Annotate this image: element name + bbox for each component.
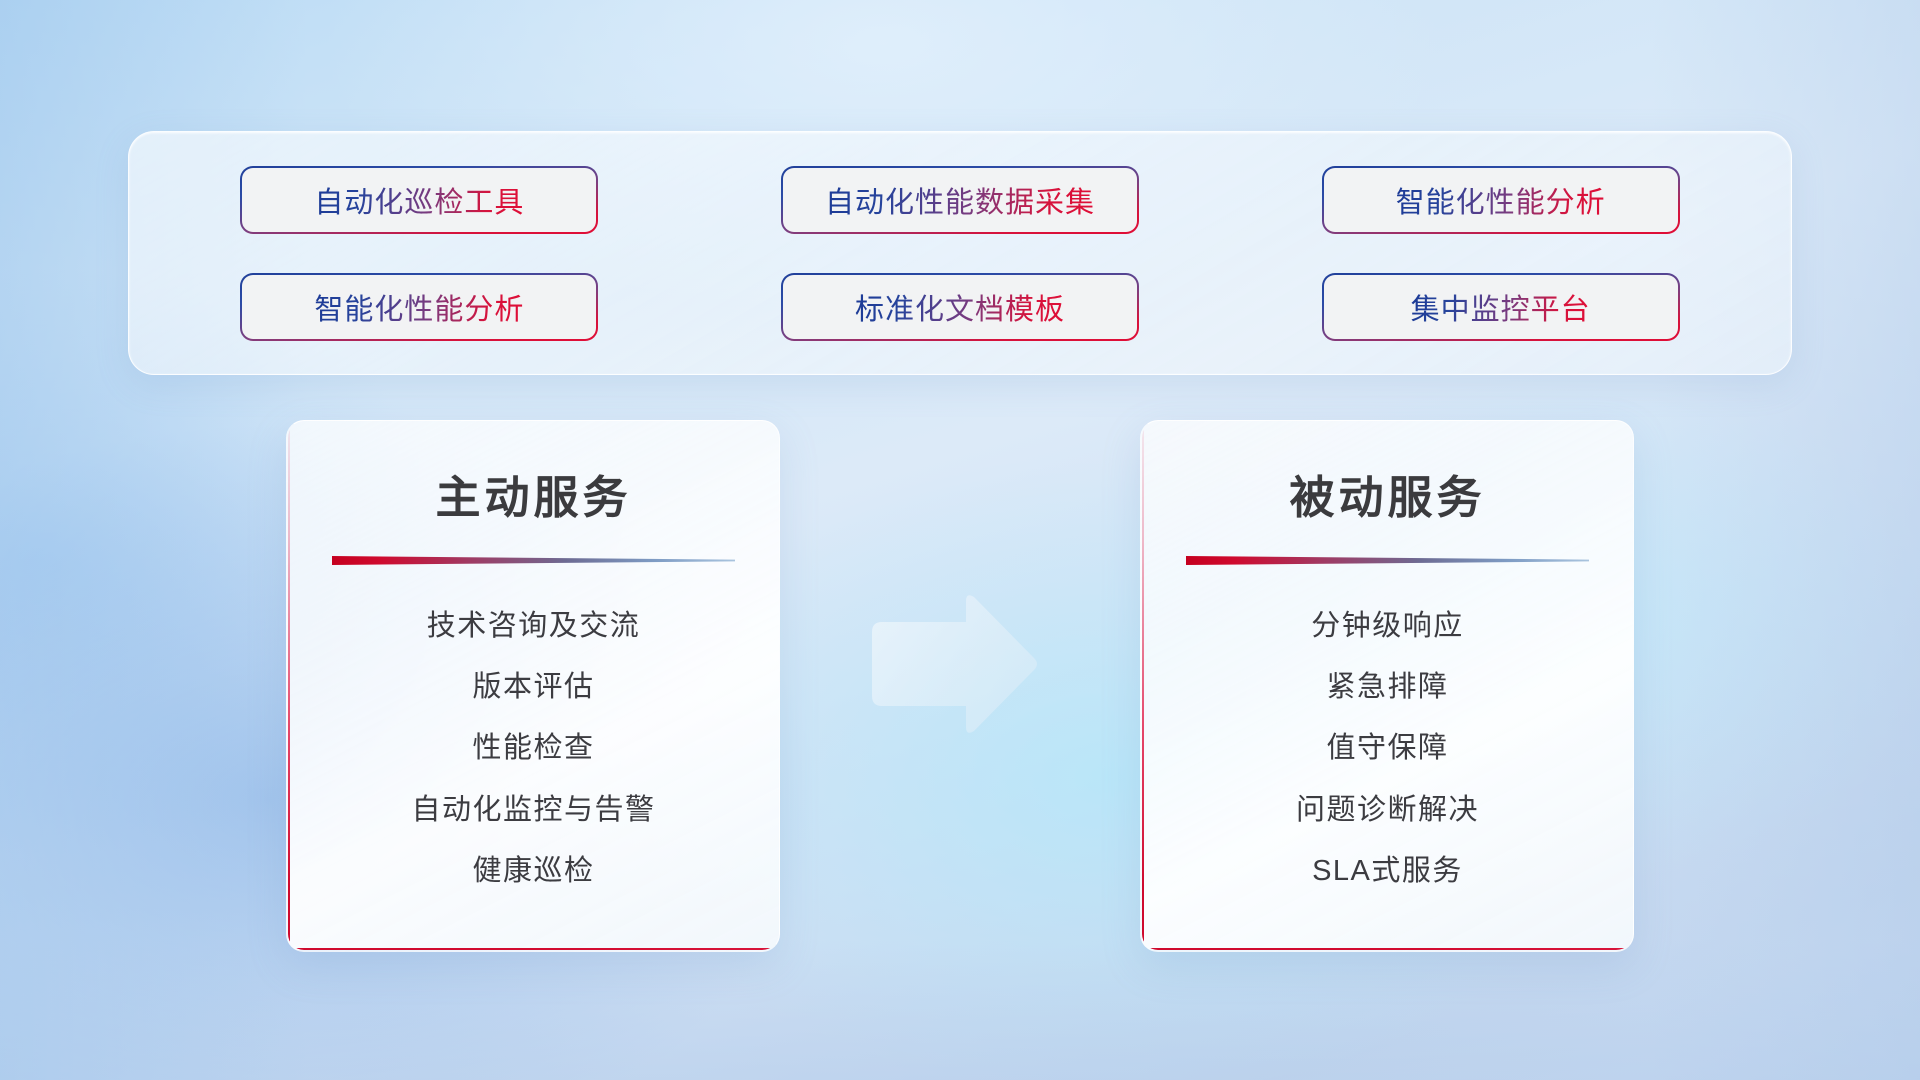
capability-pill-6[interactable]: 集中监控平台 <box>1322 273 1680 341</box>
capability-pill-3[interactable]: 智能化性能分析 <box>1322 166 1680 234</box>
card-item-list: 分钟级响应 紧急排障 值守保障 问题诊断解决 SLA式服务 <box>1168 568 1607 926</box>
title-divider <box>332 554 735 568</box>
capability-pill-label: 集中监控平台 <box>1411 286 1591 328</box>
capability-pill-2[interactable]: 自动化性能数据采集 <box>781 166 1139 234</box>
list-item: 版本评估 <box>314 671 753 704</box>
capability-pill-label: 自动化巡检工具 <box>314 179 524 221</box>
capability-pill-5[interactable]: 标准化文档模板 <box>781 273 1139 341</box>
title-divider <box>1186 554 1589 568</box>
list-item: 自动化监控与告警 <box>314 794 753 827</box>
list-item: 健康巡检 <box>314 855 753 888</box>
capability-pill-label: 标准化文档模板 <box>855 286 1065 328</box>
capability-pill-1[interactable]: 自动化巡检工具 <box>240 166 598 234</box>
card-title: 主动服务 <box>314 461 753 526</box>
arrow-right-icon <box>862 590 1040 738</box>
card-title: 被动服务 <box>1168 461 1607 526</box>
service-card-reactive: 被动服务 分钟级响应 紧急排障 值守保障 <box>1140 420 1634 952</box>
capability-pill-label: 智能化性能分析 <box>1396 179 1606 221</box>
list-item: 技术咨询及交流 <box>314 610 753 643</box>
list-item: 性能检查 <box>314 732 753 765</box>
list-item: 紧急排障 <box>1168 671 1607 704</box>
card-item-list: 技术咨询及交流 版本评估 性能检查 自动化监控与告警 健康巡检 <box>314 568 753 926</box>
capability-pill-4[interactable]: 智能化性能分析 <box>240 273 598 341</box>
service-flow: 主动服务 技术咨询及交流 版本评估 性能检查 <box>0 420 1920 980</box>
capability-pill-label: 智能化性能分析 <box>314 286 524 328</box>
capability-pill-label: 自动化性能数据采集 <box>825 179 1095 221</box>
list-item: 分钟级响应 <box>1168 610 1607 643</box>
list-item: SLA式服务 <box>1168 855 1607 888</box>
list-item: 值守保障 <box>1168 732 1607 765</box>
capability-panel: 自动化巡检工具 自动化性能数据采集 智能化性能分析 智能化性能分析 标准化文档模… <box>128 131 1792 375</box>
list-item: 问题诊断解决 <box>1168 794 1607 827</box>
service-card-proactive: 主动服务 技术咨询及交流 版本评估 性能检查 <box>286 420 780 952</box>
